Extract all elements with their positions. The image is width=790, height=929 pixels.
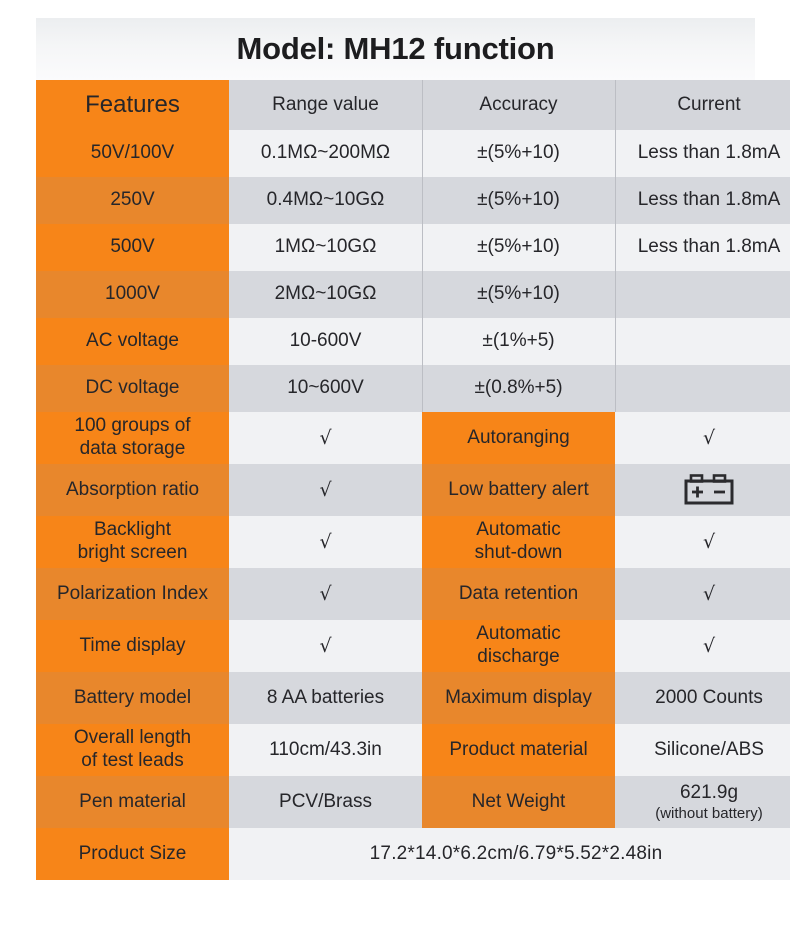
row-range-value: 10~600V (229, 365, 422, 412)
feature-label-right-line2: discharge (428, 646, 609, 669)
row-accuracy: ±(5%+10) (422, 271, 615, 318)
table-row: DC voltage 10~600V ±(0.8%+5) (36, 365, 790, 412)
feature-label-left-line2: data storage (42, 438, 223, 461)
row-current (615, 318, 790, 365)
feature-value-right: √ (615, 412, 790, 464)
row-current: Less than 1.8mA (615, 224, 790, 271)
feature-label-left: Time display (36, 620, 229, 672)
feature-value-right (615, 464, 790, 516)
table-row: Backlight bright screen √ Automatic shut… (36, 516, 790, 568)
feature-label-right-line2: shut-down (428, 542, 609, 565)
feature-value-right: 2000 Counts (615, 672, 790, 724)
feature-value-left: √ (229, 412, 422, 464)
feature-label-right-line1: Autoranging (428, 427, 609, 450)
header-range-value: Range value (229, 80, 422, 130)
specification-table: Features Range value Accuracy Current 50… (36, 80, 790, 880)
row-range-value: 0.1MΩ~200MΩ (229, 130, 422, 177)
feature-value-left: 110cm/43.3in (229, 724, 422, 776)
row-range-value: 2MΩ~10GΩ (229, 271, 422, 318)
product-size-value: 17.2*14.0*6.2cm/6.79*5.52*2.48in (229, 828, 790, 880)
feature-label-right: Automatic discharge (422, 620, 615, 672)
feature-label-left-line1: Backlight (42, 519, 223, 542)
table-row: Polarization Index √ Data retention √ (36, 568, 790, 620)
feature-value-left: √ (229, 464, 422, 516)
battery-icon-wrapper (621, 473, 790, 507)
feature-label-left-line1: 100 groups of (42, 415, 223, 438)
feature-label-left: Pen material (36, 776, 229, 828)
table-row: 500V 1MΩ~10GΩ ±(5%+10) Less than 1.8mA (36, 224, 790, 271)
page-title: Model: MH12 function (236, 31, 554, 67)
feature-label-right-line1: Automatic (428, 623, 609, 646)
feature-value-left: √ (229, 568, 422, 620)
spec-sheet: Model: MH12 function Features Range valu… (0, 0, 790, 929)
row-current: Less than 1.8mA (615, 177, 790, 224)
header-accuracy: Accuracy (422, 80, 615, 130)
feature-value-right: √ (615, 568, 790, 620)
feature-value-left: √ (229, 516, 422, 568)
spec-card: Model: MH12 function Features Range valu… (36, 18, 755, 880)
row-current (615, 271, 790, 318)
row-accuracy: ±(5%+10) (422, 224, 615, 271)
feature-label-right: Low battery alert (422, 464, 615, 516)
feature-label-left-line2: bright screen (42, 542, 223, 565)
feature-label-left: Polarization Index (36, 568, 229, 620)
row-current: Less than 1.8mA (615, 130, 790, 177)
row-accuracy: ±(5%+10) (422, 177, 615, 224)
feature-value-left: √ (229, 620, 422, 672)
feature-label-left-line1: Overall length (42, 727, 223, 750)
row-feature-label: 250V (36, 177, 229, 224)
table-row: Absorption ratio √ Low battery alert (36, 464, 790, 516)
feature-value-right: √ (615, 620, 790, 672)
feature-label-left: Battery model (36, 672, 229, 724)
row-range-value: 0.4MΩ~10GΩ (229, 177, 422, 224)
feature-label-left-line2: of test leads (42, 750, 223, 773)
feature-value-right: 621.9g (without battery) (615, 776, 790, 828)
row-current (615, 365, 790, 412)
feature-value-right: √ (615, 516, 790, 568)
feature-label-right: Autoranging (422, 412, 615, 464)
table-header-row: Features Range value Accuracy Current (36, 80, 790, 130)
row-feature-label: 1000V (36, 271, 229, 318)
table-row: AC voltage 10-600V ±(1%+5) (36, 318, 790, 365)
row-feature-label: DC voltage (36, 365, 229, 412)
feature-value-left: PCV/Brass (229, 776, 422, 828)
feature-label-right: Net Weight (422, 776, 615, 828)
table-row: Overall length of test leads 110cm/43.3i… (36, 724, 790, 776)
net-weight-note: (without battery) (621, 805, 790, 822)
title-bar: Model: MH12 function (36, 18, 755, 80)
feature-label-right: Automatic shut-down (422, 516, 615, 568)
feature-label-right: Product material (422, 724, 615, 776)
net-weight-value: 621.9g (621, 782, 790, 805)
table-row: 50V/100V 0.1MΩ~200MΩ ±(5%+10) Less than … (36, 130, 790, 177)
feature-label-left: 100 groups of data storage (36, 412, 229, 464)
table-row: 1000V 2MΩ~10GΩ ±(5%+10) (36, 271, 790, 318)
row-range-value: 1MΩ~10GΩ (229, 224, 422, 271)
product-size-label: Product Size (36, 828, 229, 880)
table-row: 250V 0.4MΩ~10GΩ ±(5%+10) Less than 1.8mA (36, 177, 790, 224)
battery-icon (683, 473, 735, 507)
table-row: 100 groups of data storage √ Autoranging… (36, 412, 790, 464)
product-size-row: Product Size 17.2*14.0*6.2cm/6.79*5.52*2… (36, 828, 790, 880)
row-range-value: 10-600V (229, 318, 422, 365)
row-accuracy: ±(1%+5) (422, 318, 615, 365)
table-row: Time display √ Automatic discharge √ (36, 620, 790, 672)
feature-label-right: Maximum display (422, 672, 615, 724)
feature-value-left: 8 AA batteries (229, 672, 422, 724)
feature-label-left: Overall length of test leads (36, 724, 229, 776)
row-feature-label: 500V (36, 224, 229, 271)
table-row: Battery model 8 AA batteries Maximum dis… (36, 672, 790, 724)
feature-value-right: Silicone/ABS (615, 724, 790, 776)
feature-label-right-line1: Automatic (428, 519, 609, 542)
header-features: Features (36, 80, 229, 130)
table-row: Pen material PCV/Brass Net Weight 621.9g… (36, 776, 790, 828)
header-current: Current (615, 80, 790, 130)
feature-label-left: Backlight bright screen (36, 516, 229, 568)
row-accuracy: ±(5%+10) (422, 130, 615, 177)
row-accuracy: ±(0.8%+5) (422, 365, 615, 412)
feature-label-left: Absorption ratio (36, 464, 229, 516)
row-feature-label: AC voltage (36, 318, 229, 365)
feature-label-right: Data retention (422, 568, 615, 620)
row-feature-label: 50V/100V (36, 130, 229, 177)
